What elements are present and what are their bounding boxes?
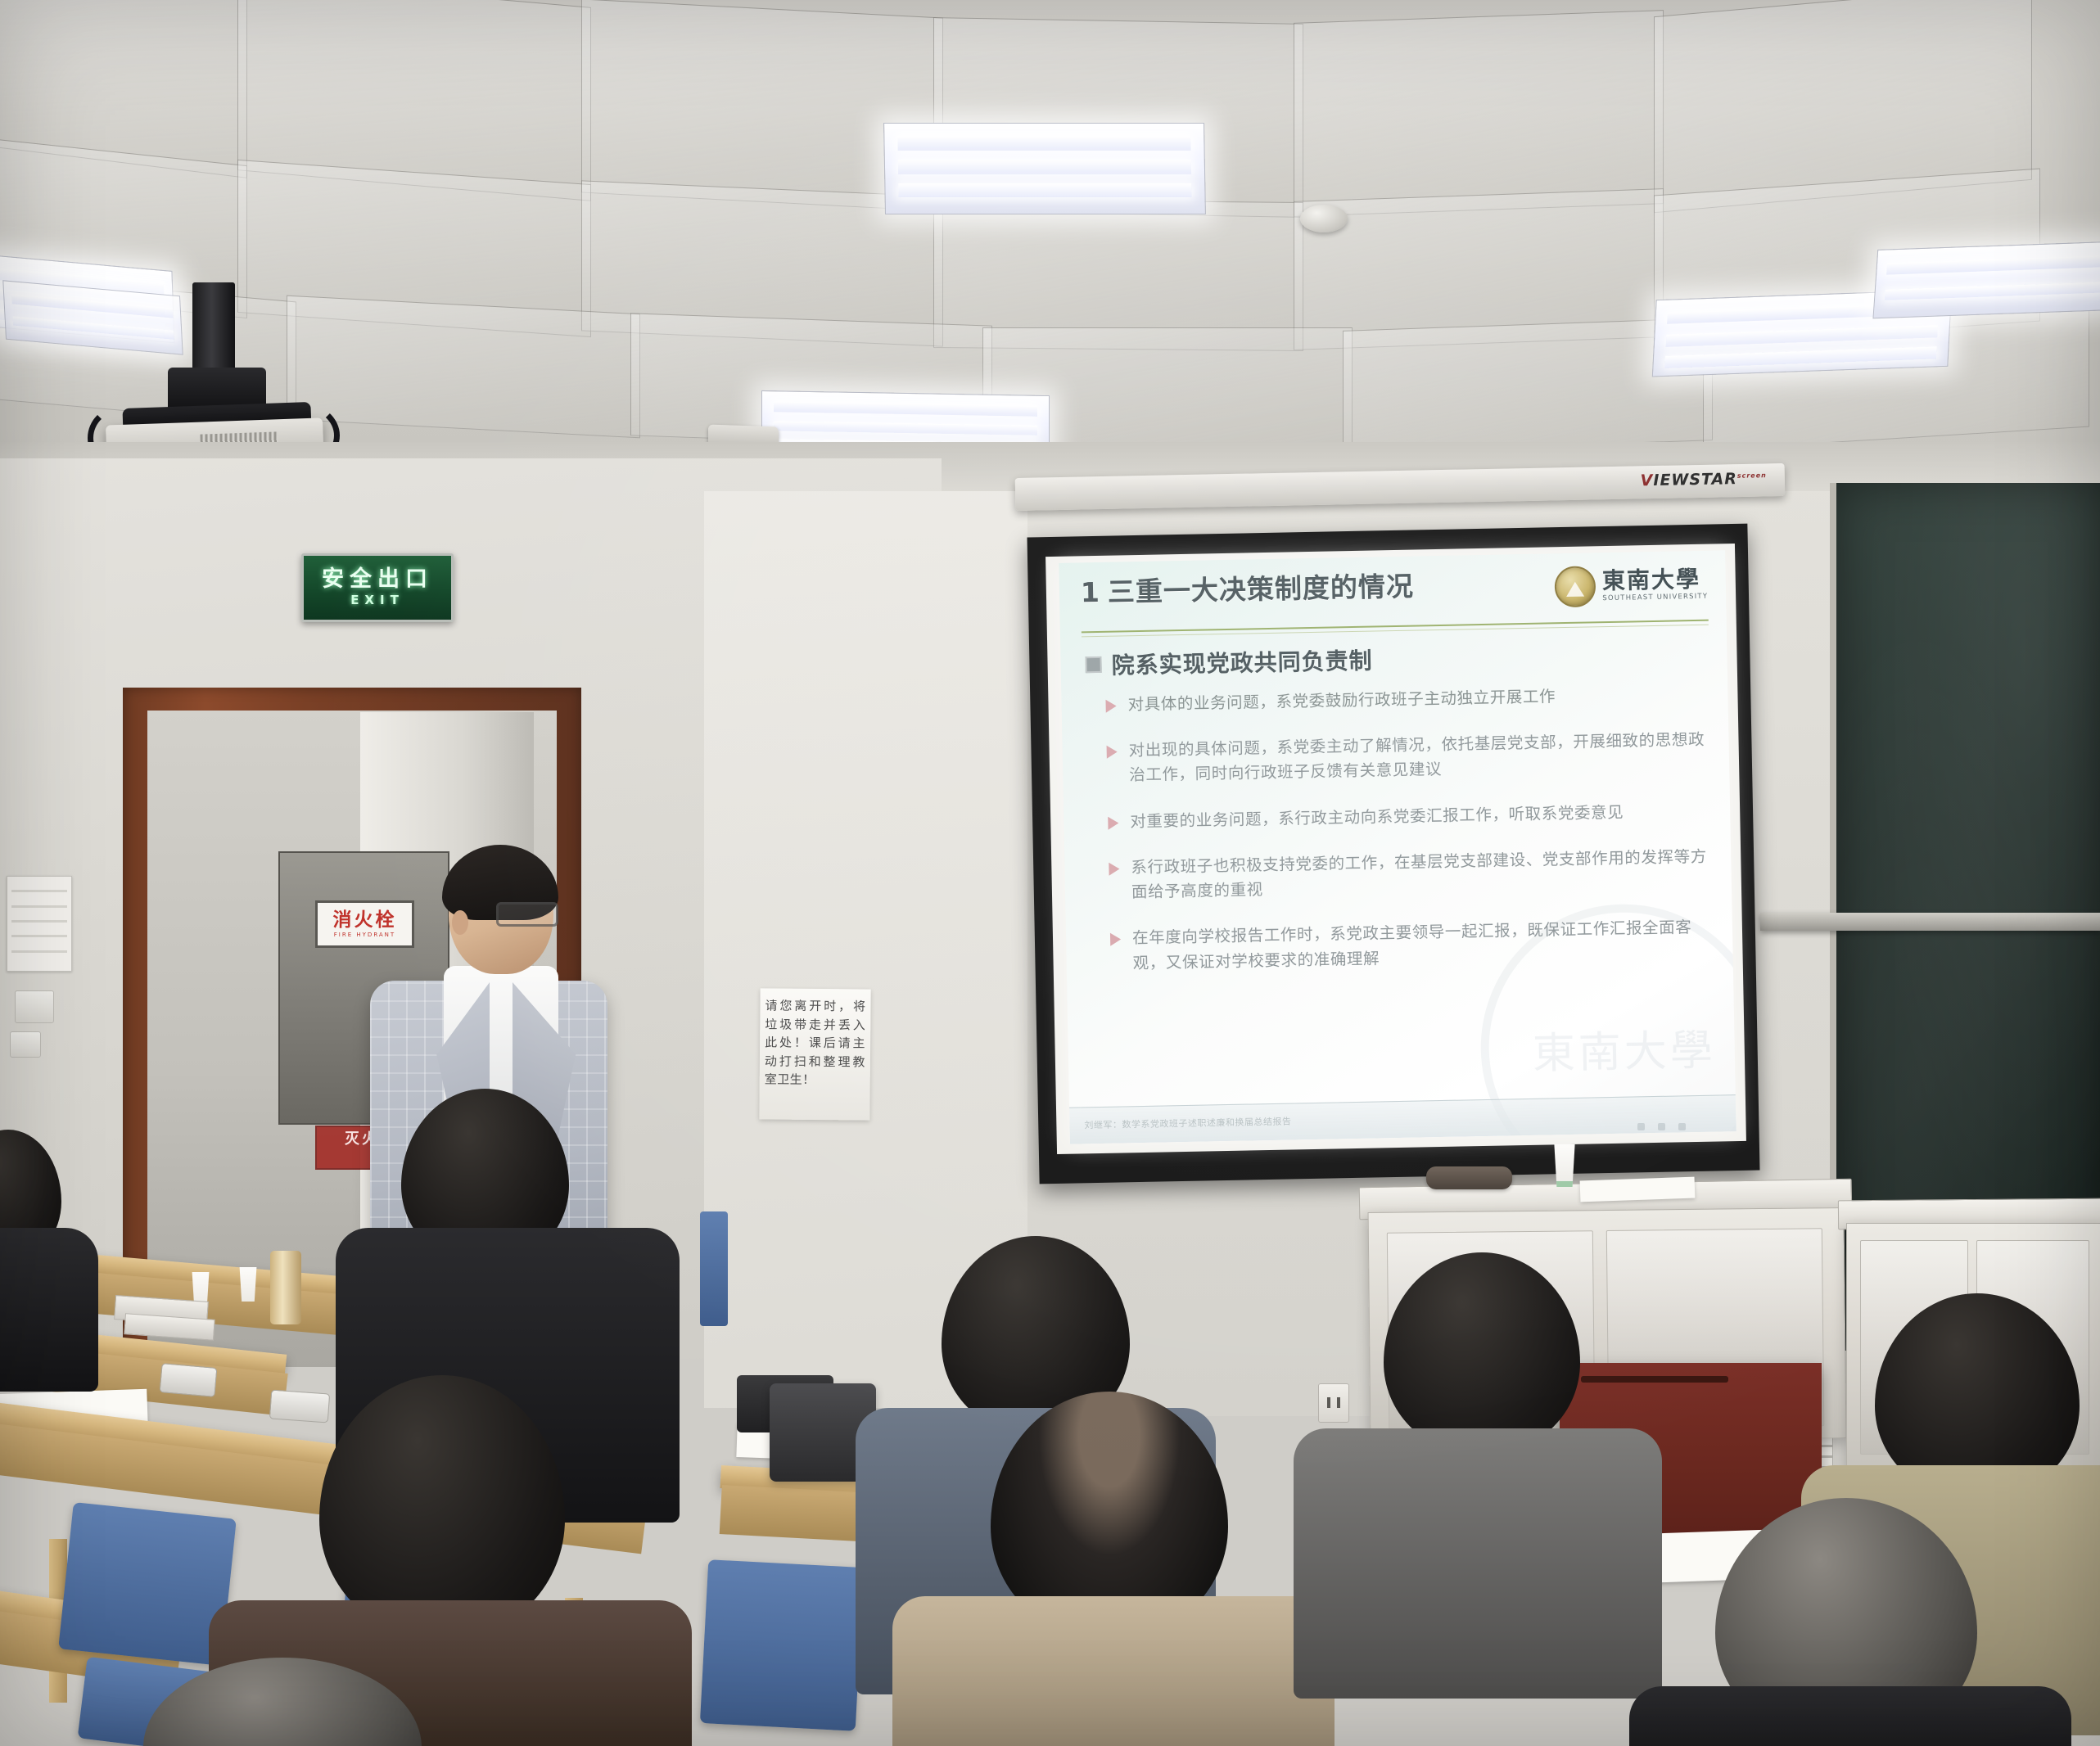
square-bullet-icon <box>1085 656 1101 673</box>
screen-brand-logo: VIEWSTARscreen <box>1640 469 1767 490</box>
list-item: 对出现的具体问题，系党委主动了解情况，依托基层党支部，开展细致的思想政治工作，同… <box>1106 728 1706 788</box>
presenter-ear <box>452 910 468 935</box>
smoke-detector <box>1300 205 1348 232</box>
university-name-cn: 東南大學 <box>1602 568 1708 593</box>
slide-navigation-dots[interactable] <box>1637 1123 2082 1130</box>
audience-body <box>0 1228 98 1392</box>
ceiling-light <box>883 123 1206 214</box>
slide-bullet-list: 对具体的业务问题，系党委鼓励行政班子主动独立开展工作 对出现的具体问题，系党委主… <box>1105 682 1710 998</box>
list-item: 在年度向学校报告工作时，系党政主要领导一起汇报，既保证工作汇报全面客观，又保证对… <box>1110 915 1710 976</box>
chalk-tray <box>1760 913 2100 931</box>
screen-brand-initial: V <box>1640 471 1653 490</box>
wall-poster <box>7 876 72 972</box>
nav-dot[interactable] <box>1637 1123 1645 1130</box>
exit-sign: 安全出口 EXIT <box>301 553 454 622</box>
triangle-bullet-icon <box>1109 862 1119 875</box>
ceiling-light <box>1872 241 2100 319</box>
list-item: 对重要的业务问题，系行政主动向系党委汇报工作，听取系党委意见 <box>1108 798 1707 834</box>
nav-dot[interactable] <box>1678 1123 1686 1130</box>
bullet-text: 对具体的业务问题，系党委鼓励行政班子主动独立开展工作 <box>1127 684 1556 717</box>
list-item: 对具体的业务问题，系党委鼓励行政班子主动独立开展工作 <box>1105 682 1705 718</box>
audience-body <box>1294 1428 1662 1699</box>
bullet-text: 系行政班子也积极支持党委的工作，在基层党支部建设、党支部作用的发挥等方面给予高度… <box>1131 845 1709 905</box>
exit-sign-label-cn: 安全出口 <box>322 568 433 590</box>
audience-body <box>1629 1686 2071 1746</box>
university-logo: 東南大學 SOUTHEAST UNIVERSITY <box>1555 564 1709 608</box>
slide-title-number: 1 <box>1081 576 1101 608</box>
lectern-slot <box>1581 1376 1728 1383</box>
triangle-bullet-icon <box>1108 816 1118 829</box>
projector-mount-pole <box>192 282 235 374</box>
floor-box <box>700 1211 728 1326</box>
triangle-bullet-icon <box>1107 746 1118 759</box>
wall-notice-paper: 请您离开时，将垃圾带走并丢入此处！课后请主动打扫和整理教室卫生！ <box>759 988 870 1120</box>
nav-dot[interactable] <box>1658 1123 1665 1130</box>
bullet-text: 对重要的业务问题，系行政主动向系党委汇报工作，听取系党委意见 <box>1130 800 1624 834</box>
list-item: 系行政班子也积极支持党委的工作，在基层党支部建设、党支部作用的发挥等方面给予高度… <box>1109 845 1709 905</box>
screen-brand-sup: screen <box>1737 471 1767 480</box>
light-switch-plate[interactable] <box>15 990 54 1023</box>
slide-title-text: 三重一大决策制度的情况 <box>1108 571 1415 608</box>
university-seal-icon <box>1555 566 1596 607</box>
triangle-bullet-icon <box>1110 933 1121 946</box>
presentation-slide: 東南大學 1三重一大决策制度的情况 東南大學 SOUTHEAST UNIVERS… <box>1059 550 1736 1144</box>
university-name-en: SOUTHEAST UNIVERSITY <box>1602 593 1708 602</box>
wall-power-outlet[interactable] <box>1318 1383 1349 1423</box>
light-switch-plate[interactable] <box>10 1031 41 1058</box>
slide-section-heading: 院系实现党政共同负责制 <box>1085 643 1373 682</box>
section-heading-text: 院系实现党政共同负责制 <box>1111 643 1373 681</box>
thermos-bottle[interactable] <box>270 1251 301 1324</box>
desk-papers <box>1580 1177 1696 1202</box>
bullet-text: 在年度向学校报告工作时，系党政主要领导一起汇报，既保证工作汇报全面客观，又保证对… <box>1132 915 1710 976</box>
exit-sign-label-en: EXIT <box>350 593 404 607</box>
classroom-chair[interactable] <box>700 1559 864 1731</box>
mobile-phone[interactable] <box>269 1390 330 1423</box>
presenter-glasses <box>496 902 558 927</box>
blackboard-eraser[interactable] <box>1426 1166 1512 1189</box>
triangle-bullet-icon <box>1105 700 1116 713</box>
slide-footer-text: 刘继军：数学系党政班子述职述廉和换届总结报告 <box>1084 1115 1291 1132</box>
classroom-presentation-photo: 安全出口 EXIT 消火栓 FIRE HYDRANT 灭火 请您离开时，将垃圾带… <box>0 0 2100 1746</box>
wall-notice-text: 请您离开时，将垃圾带走并丢入此处！课后请主动打扫和整理教室卫生！ <box>765 996 866 1090</box>
mobile-phone[interactable] <box>160 1363 218 1397</box>
screen-brand-name: IEWSTAR <box>1653 470 1737 490</box>
audience-body <box>892 1596 1335 1746</box>
bullet-text: 对出现的具体问题，系党委主动了解情况，依托基层党支部，开展细致的思想政治工作，同… <box>1128 728 1706 788</box>
